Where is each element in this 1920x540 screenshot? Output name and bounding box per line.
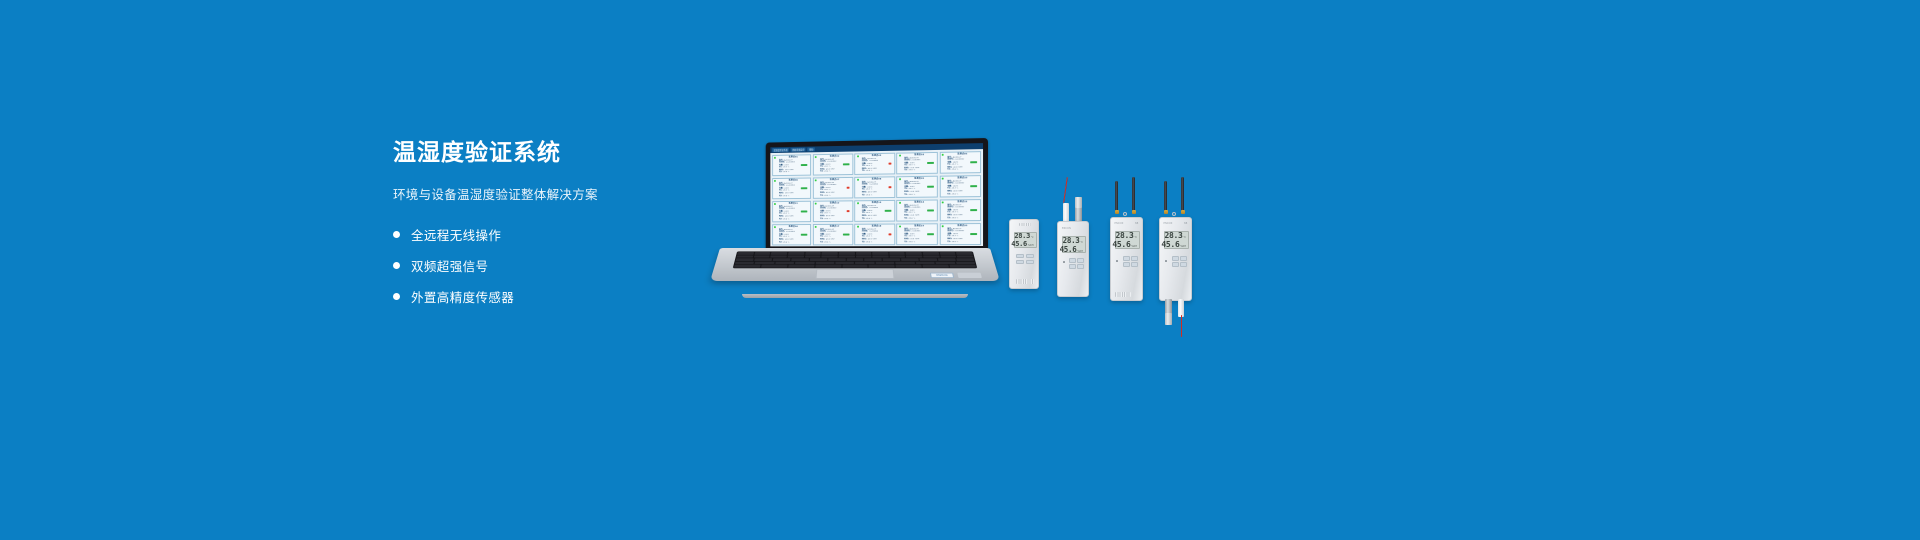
- battery-indicator: [971, 209, 978, 211]
- sensor-field-value: 28.4 ℃: [824, 194, 831, 197]
- sensor-field-key: T2:: [820, 241, 823, 244]
- keyboard-key[interactable]: [876, 262, 895, 265]
- device-key[interactable]: [1016, 260, 1024, 264]
- device-dual-antenna-logger-b: ENCON NB 28.3℃ 45.6%RH: [1159, 183, 1192, 301]
- keyboard-key[interactable]: [872, 252, 888, 254]
- sensor-card[interactable]: 监测点01型号:A2000-TH序列号:21200800电量:100%T1:28…: [772, 154, 812, 176]
- device-key[interactable]: [1026, 260, 1034, 264]
- device-dual-antenna-logger-a: ENCON NB 28.3℃ 45.6%RH: [1110, 183, 1143, 301]
- keyboard-key[interactable]: [787, 255, 803, 257]
- keyboard-key[interactable]: [737, 252, 753, 254]
- humidity-unit: %RH: [1077, 250, 1083, 253]
- sensor-status-led-icon: [857, 226, 859, 228]
- alarm-indicator: [888, 186, 891, 188]
- sensor-card[interactable]: 监测点06型号:A2000-TH序列号:21200800电量:100%T1:28…: [772, 177, 812, 199]
- device-brand-label: ENCON: [1164, 222, 1173, 225]
- sensor-card[interactable]: 监测点18型号:A2000-TH序列号:21200800电量:100%T1:28…: [854, 223, 895, 245]
- sensor-field-value: 28.4 ℃: [783, 241, 789, 244]
- device-lineup: 28.3℃ 45.6%RH ENCON: [995, 175, 1235, 325]
- sensor-field-key: T2:: [779, 195, 782, 198]
- device-key[interactable]: [1180, 262, 1187, 267]
- red-sensor-wire: [1181, 315, 1182, 337]
- keyboard-key[interactable]: [828, 258, 845, 261]
- keyboard-key[interactable]: [856, 252, 872, 254]
- sensor-field-value: 28.4 ℃: [908, 217, 915, 220]
- device-key[interactable]: [1016, 254, 1024, 258]
- battery-indicator: [801, 164, 808, 166]
- sensor-card[interactable]: 监测点08型号:A2000-TH序列号:21200800电量:100%T1:28…: [854, 176, 895, 199]
- sensor-field-value: 28.4 ℃: [908, 241, 915, 244]
- laptop-screen: 温湿度验证系统 数据采集监控 帮助 监测点01型号:A2000-TH序列号:21…: [770, 143, 983, 246]
- red-sensor-wire: [1063, 177, 1068, 203]
- tab-monitoring[interactable]: 温湿度验证系统: [772, 148, 789, 152]
- sensor-field-row: T2:28.4 ℃: [945, 193, 979, 196]
- laptop-keyboard[interactable]: [733, 251, 978, 268]
- sensor-field-key: T2:: [779, 241, 782, 244]
- sensor-field-key: T2:: [904, 193, 907, 196]
- sensor-field-row: T2:28.4 ℃: [902, 169, 936, 172]
- device-key[interactable]: [1077, 264, 1084, 269]
- sensor-field-row: T2:28.4 ℃: [818, 218, 851, 221]
- device-brand-label: ENCON: [1062, 227, 1071, 230]
- sensor-card[interactable]: 监测点07型号:A2000-TH序列号:21200800电量:100%T1:28…: [813, 176, 853, 198]
- laptop-base: IntelCore: [710, 248, 1000, 281]
- sensor-field-value: 28.4 ℃: [866, 217, 873, 220]
- sensor-grille-icon: [1115, 292, 1131, 297]
- device-key[interactable]: [1172, 256, 1179, 261]
- antenna-base-left: [1164, 210, 1168, 214]
- sensor-status-led-icon: [899, 178, 901, 180]
- sensor-field-value: 28.4 ℃: [783, 195, 789, 198]
- sensor-field-value: 28.4 ℃: [952, 169, 959, 172]
- sensor-status-led-icon: [942, 178, 944, 180]
- copy-block: 温湿度验证系统 环境与设备温湿度验证整体解决方案 全远程无线操作 双频超强信号 …: [393, 140, 723, 310]
- sensor-card[interactable]: 监测点11型号:A2000-TH序列号:21200800电量:100%T1:28…: [772, 200, 812, 222]
- keyboard-key[interactable]: [736, 258, 754, 261]
- device-key[interactable]: [1026, 254, 1034, 258]
- sensor-status-led-icon: [899, 155, 901, 157]
- feature-item: 双频超强信号: [393, 253, 723, 279]
- device-key[interactable]: [1123, 262, 1130, 267]
- keyboard-row: [737, 252, 972, 254]
- sensor-field-row: T2:28.4 ℃: [860, 170, 893, 173]
- antenna-right-icon: [1132, 177, 1135, 211]
- sensor-card[interactable]: 监测点19型号:A2000-TH序列号:21200800电量:100%T1:28…: [897, 223, 938, 245]
- sensor-field-row: T2:28.4 ℃: [945, 241, 979, 244]
- device-brand-label: ENCON: [1115, 222, 1124, 225]
- keyboard-key[interactable]: [956, 258, 974, 261]
- sensor-field-value: 28.4 ℃: [783, 172, 789, 175]
- keyboard-key[interactable]: [791, 258, 809, 261]
- sensor-field-key: T2:: [862, 170, 865, 173]
- sensor-field-value: 28.4 ℃: [952, 241, 959, 244]
- sensor-field-row: T2:28.4 ℃: [902, 217, 936, 220]
- keyboard-key[interactable]: [869, 265, 895, 268]
- keyboard-key[interactable]: [923, 252, 939, 254]
- keyboard-key[interactable]: [761, 265, 787, 268]
- keyboard-key[interactable]: [788, 252, 804, 254]
- alarm-indicator: [888, 162, 891, 164]
- sensor-field-row: T2:28.4 ℃: [860, 194, 893, 197]
- sensor-status-led-icon: [942, 154, 944, 156]
- keyboard-key[interactable]: [940, 255, 956, 257]
- keyboard-key[interactable]: [838, 255, 854, 257]
- device-key[interactable]: [1123, 256, 1130, 261]
- battery-indicator: [927, 209, 934, 211]
- feature-item: 外置高精度传感器: [393, 284, 723, 310]
- temperature-unit: ℃: [1031, 236, 1034, 239]
- keyboard-key[interactable]: [906, 255, 922, 257]
- lcd-display: 28.3℃ 45.6%RH: [1014, 232, 1037, 248]
- keyboard-row: [737, 255, 974, 257]
- sensor-field-row: T2:28.4 ℃: [777, 241, 809, 244]
- promo-banner: 温湿度验证系统 环境与设备温湿度验证整体解决方案 全远程无线操作 双频超强信号 …: [0, 0, 1920, 540]
- keyboard-key[interactable]: [923, 255, 939, 257]
- sensor-status-led-icon: [774, 203, 776, 205]
- sensor-field-key: T2:: [904, 170, 907, 173]
- humidity-unit: %RH: [1028, 244, 1034, 247]
- sensor-field-row: T2:28.4 ℃: [777, 171, 809, 174]
- keyboard-key[interactable]: [846, 258, 863, 261]
- sensor-card[interactable]: 监测点02型号:A2000-TH序列号:21200800电量:100%T1:28…: [813, 153, 853, 176]
- sensor-grille-icon: [1016, 279, 1034, 284]
- mount-hole-icon: [1123, 212, 1127, 216]
- tab-help[interactable]: 帮助: [808, 147, 815, 151]
- keyboard-key[interactable]: [773, 258, 791, 261]
- vent-icon: [1019, 223, 1031, 227]
- battery-indicator: [927, 186, 934, 188]
- feature-list: 全远程无线操作 双频超强信号 外置高精度传感器: [393, 222, 723, 310]
- sensor-field-row: T2:28.4 ℃: [777, 195, 809, 198]
- sensor-field-row: T2:28.4 ℃: [860, 241, 893, 244]
- keyboard-key[interactable]: [957, 255, 974, 257]
- keyboard-key[interactable]: [734, 265, 760, 268]
- keyboard-key[interactable]: [906, 252, 922, 254]
- laptop-lid: 温湿度验证系统 数据采集监控 帮助 监测点01型号:A2000-TH序列号:21…: [766, 138, 988, 256]
- keyboard-key[interactable]: [901, 258, 919, 261]
- laptop-product-image: 温湿度验证系统 数据采集监控 帮助 监测点01型号:A2000-TH序列号:21…: [720, 138, 990, 298]
- sensor-status-led-icon: [815, 203, 817, 205]
- sensor-field-value: 28.4 ℃: [783, 218, 789, 221]
- keyboard-key[interactable]: [923, 265, 949, 268]
- sensor-field-row: T2:28.4 ℃: [902, 241, 936, 244]
- device-key[interactable]: [1069, 264, 1076, 269]
- antenna-left-icon: [1164, 181, 1167, 211]
- sensor-field-key: T2:: [862, 217, 865, 220]
- device-key[interactable]: [1180, 256, 1187, 261]
- sensor-field-key: T2:: [820, 194, 823, 197]
- temperature-value: 28.3: [1164, 231, 1182, 240]
- sensor-field-row: T2:28.4 ℃: [860, 217, 893, 220]
- device-key[interactable]: [1172, 262, 1179, 267]
- sensor-status-led-icon: [815, 226, 817, 228]
- sensor-status-led-icon: [774, 157, 776, 159]
- feature-label: 双频超强信号: [411, 256, 488, 275]
- sensor-field-row: T2:28.4 ℃: [902, 193, 936, 196]
- keyboard-key[interactable]: [815, 265, 841, 268]
- keyboard-key[interactable]: [754, 252, 770, 254]
- sensor-field-key: T2:: [862, 194, 865, 197]
- device-key[interactable]: [1131, 262, 1138, 267]
- keyboard-key[interactable]: [804, 255, 820, 257]
- sensor-field-key: T2:: [904, 217, 907, 220]
- battery-indicator: [801, 210, 808, 212]
- feature-label: 全远程无线操作: [411, 225, 501, 244]
- sensor-status-led-icon: [942, 225, 944, 227]
- keyboard-key[interactable]: [896, 265, 922, 268]
- sensor-card-grid: 监测点01型号:A2000-TH序列号:21200800电量:100%T1:28…: [770, 149, 983, 246]
- keyboard-key[interactable]: [788, 265, 814, 268]
- sensor-field-row: T2:28.4 ℃: [945, 169, 979, 172]
- sensor-field-value: 28.4 ℃: [866, 241, 873, 244]
- keyboard-key[interactable]: [771, 252, 787, 254]
- temperature-value: 28.3: [1063, 236, 1080, 245]
- keyboard-key[interactable]: [754, 258, 772, 261]
- device-wall-mount-logger: 28.3℃ 45.6%RH: [1009, 219, 1039, 289]
- sensor-field-key: T2:: [779, 218, 782, 221]
- sensor-field-value: 28.4 ℃: [824, 218, 831, 221]
- feature-label: 外置高精度传感器: [411, 287, 514, 306]
- keyboard-key[interactable]: [770, 255, 786, 257]
- status-led-icon: [1063, 261, 1065, 263]
- sensor-card[interactable]: 监测点03型号:A2000-TH序列号:21200800电量:100%T1:28…: [854, 152, 895, 175]
- device-model-label: NB: [1135, 222, 1139, 225]
- keyboard-key[interactable]: [889, 255, 905, 257]
- sensor-field-value: 28.4 ℃: [824, 171, 831, 174]
- keyboard-key[interactable]: [735, 262, 755, 265]
- sensor-field-value: 28.4 ℃: [824, 241, 831, 244]
- device-key[interactable]: [1077, 258, 1084, 263]
- antenna-left-icon: [1115, 181, 1118, 211]
- keyboard-key[interactable]: [775, 262, 794, 265]
- keyboard-key[interactable]: [956, 252, 972, 254]
- sensor-field-value: 28.4 ℃: [908, 193, 915, 196]
- sensor-card[interactable]: 监测点16型号:A2000-TH序列号:21200800电量:100%T1:28…: [772, 224, 812, 246]
- antenna-base-left: [1115, 210, 1119, 214]
- sensor-card[interactable]: 监测点12型号:A2000-TH序列号:21200800电量:100%T1:28…: [813, 200, 853, 222]
- sensor-field-value: 28.4 ℃: [952, 217, 959, 220]
- sensor-status-led-icon: [857, 155, 859, 157]
- device-key[interactable]: [1131, 256, 1138, 261]
- sensor-field-row: T2:28.4 ℃: [945, 217, 979, 220]
- subheadline: 环境与设备温湿度验证整体解决方案: [393, 184, 723, 203]
- sensor-field-row: T2:28.4 ℃: [818, 171, 851, 174]
- keyboard-key[interactable]: [938, 258, 956, 261]
- sensor-card[interactable]: 监测点17型号:A2000-TH序列号:21200800电量:100%T1:28…: [813, 223, 853, 245]
- sensor-field-value: 28.4 ℃: [952, 193, 959, 196]
- keyboard-key[interactable]: [936, 262, 956, 265]
- sensor-field-key: T2:: [947, 217, 950, 220]
- sensor-card[interactable]: 监测点09型号:A2000-TH序列号:21200800电量:100%T1:28…: [897, 175, 938, 198]
- sensor-field-row: T2:28.4 ℃: [818, 241, 851, 244]
- bullet-dot-icon: [393, 262, 400, 269]
- keyboard-key[interactable]: [856, 255, 872, 257]
- keyboard-key[interactable]: [815, 262, 834, 265]
- sensor-card[interactable]: 监测点14型号:A2000-TH序列号:21200800电量:100%T1:28…: [897, 199, 938, 222]
- temperature-unit: ℃: [1080, 241, 1083, 244]
- laptop-front-lip: [742, 294, 968, 298]
- sensor-field-key: T2:: [820, 171, 823, 174]
- sensor-card[interactable]: 监测点20型号:A2000-TH序列号:21200800电量:100%T1:28…: [939, 223, 981, 246]
- battery-indicator: [971, 185, 978, 187]
- keyboard-row: [735, 262, 975, 265]
- keyboard-key[interactable]: [755, 262, 775, 265]
- temperature-value: 28.3: [1014, 232, 1030, 240]
- keyboard-row: [734, 265, 976, 268]
- temperature-value: 28.3: [1115, 231, 1133, 240]
- battery-indicator: [843, 163, 850, 165]
- humidity-unit: %RH: [1131, 245, 1137, 248]
- cpu-sticker: IntelCore: [930, 273, 954, 278]
- keyboard-key[interactable]: [956, 262, 976, 265]
- sensor-field-row: T2:28.4 ℃: [777, 218, 809, 221]
- sensor-status-led-icon: [899, 226, 901, 228]
- sensor-status-led-icon: [774, 226, 776, 228]
- humidity-value: 45.6: [1011, 240, 1027, 248]
- keyboard-key[interactable]: [839, 252, 855, 254]
- antenna-right-icon: [1181, 177, 1184, 211]
- battery-indicator: [927, 162, 934, 164]
- status-led-icon: [1116, 260, 1118, 262]
- humidity-unit: %RH: [1180, 245, 1186, 248]
- alarm-indicator: [846, 187, 849, 189]
- sensor-status-led-icon: [857, 202, 859, 204]
- sensor-card[interactable]: 监测点15型号:A2000-TH序列号:21200800电量:100%T1:28…: [939, 199, 981, 222]
- sensor-card[interactable]: 监测点10型号:A2000-TH序列号:21200800电量:100%T1:28…: [939, 175, 981, 198]
- keyboard-key[interactable]: [950, 265, 976, 268]
- antenna-base-right: [1132, 210, 1136, 214]
- sensor-field-key: T2:: [947, 241, 950, 244]
- lcd-display: 28.3℃ 45.6%RH: [1115, 231, 1140, 249]
- keyboard-key[interactable]: [754, 255, 770, 257]
- battery-indicator: [971, 161, 978, 163]
- sensor-field-key: T2:: [862, 241, 865, 244]
- keyboard-key[interactable]: [865, 258, 882, 261]
- sensor-status-led-icon: [815, 179, 817, 181]
- device-model-label: NB: [1184, 222, 1188, 225]
- probe-connector-white: [1063, 203, 1069, 223]
- tab-data-capture[interactable]: 数据采集监控: [791, 148, 806, 152]
- keyboard-key[interactable]: [855, 262, 874, 265]
- keyboard-key[interactable]: [822, 252, 838, 254]
- keyboard-row: [736, 258, 975, 261]
- keyboard-key[interactable]: [872, 255, 888, 257]
- keyboard-key[interactable]: [916, 262, 935, 265]
- antenna-base-right: [1181, 210, 1185, 214]
- laptop-trackpad[interactable]: [815, 269, 894, 279]
- secondary-sticker: [957, 273, 982, 278]
- battery-indicator: [801, 187, 808, 189]
- sensor-status-led-icon: [942, 202, 944, 204]
- device-external-probe-logger: ENCON 28.3℃ 45.6%RH: [1057, 199, 1089, 297]
- device-key[interactable]: [1069, 258, 1076, 263]
- probe-filter-cap: [1165, 313, 1172, 325]
- feature-item: 全远程无线操作: [393, 222, 723, 248]
- sensor-field-key: T2:: [779, 172, 782, 175]
- keyboard-key[interactable]: [835, 262, 854, 265]
- humidity-value: 45.6: [1161, 240, 1179, 249]
- keyboard-key[interactable]: [896, 262, 915, 265]
- sensor-field-value: 28.4 ℃: [908, 170, 915, 173]
- keyboard-key[interactable]: [920, 258, 938, 261]
- sensor-field-key: T2:: [947, 169, 950, 172]
- sensor-field-key: T2:: [820, 218, 823, 221]
- keyboard-key[interactable]: [842, 265, 868, 268]
- keyboard-key[interactable]: [939, 252, 955, 254]
- bullet-dot-icon: [393, 293, 400, 300]
- keyboard-key[interactable]: [737, 255, 754, 257]
- status-led-icon: [1165, 260, 1167, 262]
- temperature-unit: ℃: [1134, 236, 1137, 239]
- battery-indicator: [885, 210, 892, 212]
- sensor-field-key: T2:: [904, 241, 907, 244]
- keyboard-key[interactable]: [883, 258, 901, 261]
- probe-filter-cap: [1075, 197, 1082, 208]
- lcd-display: 28.3℃ 45.6%RH: [1164, 231, 1189, 249]
- keyboard-key[interactable]: [805, 252, 821, 254]
- keyboard-key[interactable]: [809, 258, 827, 261]
- keyboard-key[interactable]: [795, 262, 814, 265]
- sensor-card[interactable]: 监测点13型号:A2000-TH序列号:21200800电量:100%T1:28…: [854, 200, 895, 222]
- temperature-unit: ℃: [1183, 236, 1186, 239]
- sensor-status-led-icon: [857, 179, 859, 181]
- sensor-field-value: 28.4 ℃: [866, 194, 873, 197]
- humidity-value: 45.6: [1112, 240, 1130, 249]
- sensor-field-row: T2:28.4 ℃: [818, 194, 851, 197]
- alarm-indicator: [846, 210, 849, 212]
- sensor-card[interactable]: 监测点05型号:A2000-TH序列号:21200800电量:100%T1:28…: [939, 151, 981, 174]
- mount-hole-icon: [1172, 212, 1176, 216]
- sensor-status-led-icon: [774, 180, 776, 182]
- page-title: 温湿度验证系统: [393, 140, 723, 168]
- sensor-status-led-icon: [815, 156, 817, 158]
- sensor-status-led-icon: [899, 202, 901, 204]
- lcd-display: 28.3℃ 45.6%RH: [1062, 236, 1086, 253]
- sensor-card[interactable]: 监测点04型号:A2000-TH序列号:21200800电量:100%T1:28…: [897, 151, 938, 174]
- sensor-field-key: T2:: [947, 193, 950, 196]
- bullet-dot-icon: [393, 231, 400, 238]
- keyboard-key[interactable]: [821, 255, 837, 257]
- humidity-value: 45.6: [1060, 245, 1077, 254]
- keyboard-key[interactable]: [889, 252, 905, 254]
- sensor-field-value: 28.4 ℃: [866, 170, 873, 173]
